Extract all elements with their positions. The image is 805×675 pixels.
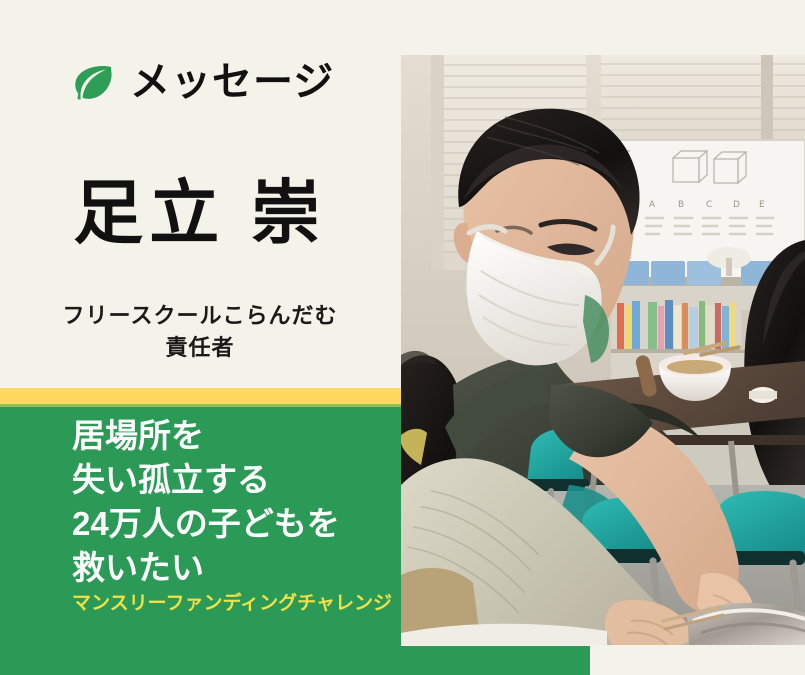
speaker-affiliation: フリースクールこらんだむ 責任者 — [0, 300, 400, 364]
speaker-name: 足立 崇 — [0, 178, 400, 248]
headline-line-4: 救いたい — [72, 546, 412, 590]
leaf-icon — [68, 58, 116, 106]
brand-header: メッセージ — [68, 58, 334, 106]
message-card: メッセージ 足立 崇 フリースクールこらんだむ 責任者 居場所を 失い孤立する … — [0, 0, 805, 675]
svg-text:B: B — [678, 200, 684, 210]
headline-line-3: 24万人の子どもを — [72, 502, 412, 546]
headline-panel-footer — [0, 646, 590, 675]
accent-bar — [0, 388, 401, 404]
svg-text:D: D — [733, 200, 740, 210]
headline-text-block: 居場所を 失い孤立する 24万人の子どもを 救いたい マンスリーファンディングチ… — [72, 414, 412, 614]
svg-text:C: C — [706, 200, 712, 210]
speaker-role: 責任者 — [0, 332, 400, 364]
headline-subtitle: マンスリーファンディングチャレンジ — [72, 594, 412, 615]
svg-text:E: E — [759, 200, 765, 210]
svg-text:A: A — [649, 200, 656, 210]
headline-line-1: 居場所を — [72, 414, 412, 458]
photo: AB CD E — [401, 55, 805, 645]
headline-line-2: 失い孤立する — [72, 458, 412, 502]
speaker-organization: フリースクールこらんだむ — [0, 300, 400, 332]
brand-label: メッセージ — [130, 62, 334, 102]
